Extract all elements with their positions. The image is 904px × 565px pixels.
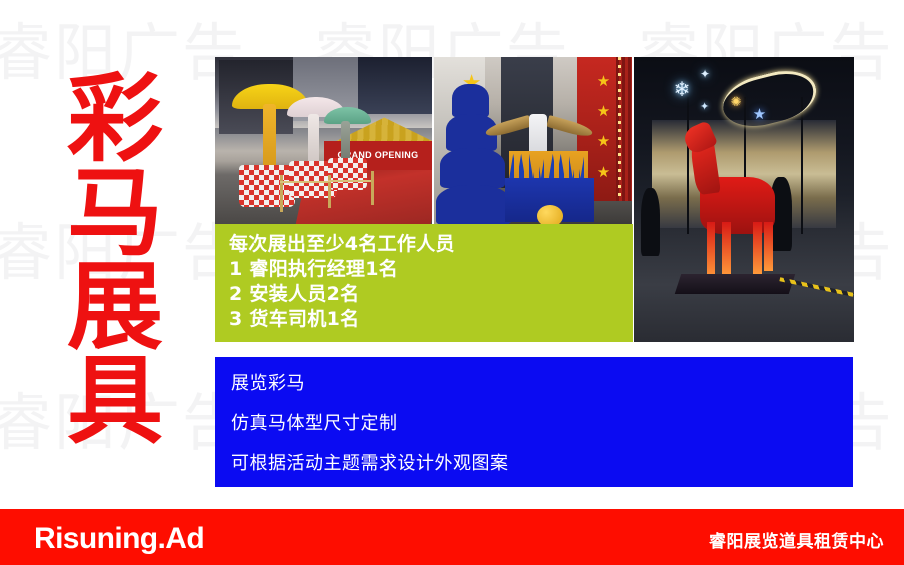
red-horse-leg — [764, 222, 773, 270]
staffing-line: 1 睿阳执行经理1名 — [229, 257, 633, 282]
star-light-icon: ★ — [753, 105, 766, 123]
stanchion-post — [371, 171, 374, 205]
footer-tagline: 睿阳展览道具租赁中心 — [709, 527, 884, 552]
title-char: 展 — [56, 260, 174, 354]
photo-redhorse-scene: ❄ ✦ ✦ ✺ ★ — [634, 57, 854, 342]
star-icon: ★ — [597, 134, 610, 149]
photo-giraffe-carousel: GRAND OPENING — [215, 57, 432, 225]
tree-cone — [452, 84, 490, 118]
checkered-base — [239, 165, 295, 207]
title-char: 马 — [56, 166, 174, 260]
description-line: 仿真马体型尺寸定制 — [231, 413, 853, 434]
gold-ball-prop — [537, 205, 563, 225]
building-shape — [358, 57, 432, 114]
tree-cone — [436, 185, 511, 225]
snowflake-icon: ✦ — [700, 68, 710, 80]
stanchion-post — [280, 175, 283, 212]
giraffe-neck — [263, 104, 276, 168]
slide-canvas: 睿阳广告 睿阳广告 睿阳广告 睿阳广告 睿阳广告 睿阳广告 睿阳广告 睿阳广告 … — [0, 0, 904, 565]
description-line: 展览彩马 — [231, 373, 853, 394]
product-description-box: 展览彩马 仿真马体型尺寸定制 可根据活动主题需求设计外观图案 — [215, 357, 853, 487]
window-mullion — [801, 97, 803, 234]
pegasus-body — [529, 114, 547, 154]
star-light-icon: ✺ — [731, 94, 742, 110]
brand-logo: Risuning.Ad — [34, 522, 204, 556]
red-horse-leg — [753, 222, 762, 273]
giraffe-neck — [341, 121, 350, 161]
photo-red-horse: ❄ ✦ ✦ ✺ ★ — [634, 57, 854, 342]
window-mullion — [687, 97, 689, 234]
stanchion-rope — [280, 181, 328, 183]
title-char: 具 — [56, 354, 174, 448]
star-icon: ★ — [597, 165, 610, 180]
photo-pegasus-scene: ★ ★ ★ ★ ★ — [434, 57, 632, 225]
staffing-info-box: 每次展出至少4名工作人员 1 睿阳执行经理1名 2 安装人员2名 3 货车司机1… — [215, 224, 633, 342]
page-title: 彩 马 展 具 — [56, 72, 174, 448]
staffing-line: 3 货车司机1名 — [229, 307, 633, 332]
horse-plinth — [675, 274, 796, 294]
staffing-line: 每次展出至少4名工作人员 — [229, 232, 633, 257]
star-icon: ★ — [597, 104, 610, 119]
red-horse-leg — [707, 222, 716, 279]
staffing-line: 2 安装人员2名 — [229, 282, 633, 307]
giraffe-neck — [308, 114, 319, 164]
star-icon: ★ — [597, 74, 610, 89]
description-line: 可根据活动主题需求设计外观图案 — [231, 453, 853, 474]
star-light-icon: ✦ — [700, 100, 709, 113]
footer-bar: Risuning.Ad 睿阳展览道具租赁中心 — [0, 509, 904, 565]
snowflake-icon: ❄ — [674, 80, 691, 100]
red-horse-leg — [722, 222, 731, 276]
tree-cone — [440, 148, 505, 188]
photo-pegasus-display: ★ ★ ★ ★ ★ — [434, 57, 632, 225]
checkered-base — [328, 158, 367, 190]
stanchion-rope — [328, 180, 371, 182]
title-char: 彩 — [56, 72, 174, 166]
light-dots — [618, 57, 621, 201]
pedestrian-silhouette — [641, 188, 661, 256]
photo-giraffe-scene: GRAND OPENING — [215, 57, 432, 225]
